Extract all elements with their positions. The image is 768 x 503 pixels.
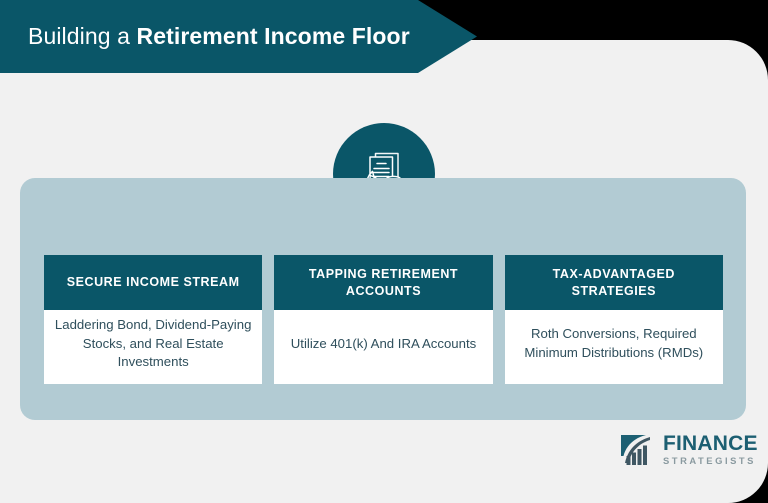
strategy-card: SECURE INCOME STREAM Laddering Bond, Div… [44,255,262,384]
infographic-root: Building a Retirement Income Floor [0,0,768,503]
finance-strategists-logo: FINANCE STRATEGISTS [620,432,758,466]
strategy-card-body: Roth Conversions, Required Minimum Distr… [505,310,723,384]
strategy-card-list: SECURE INCOME STREAM Laddering Bond, Div… [44,255,723,384]
page-title-prefix: Building a [28,23,137,49]
strategy-card-body: Laddering Bond, Dividend-Paying Stocks, … [44,310,262,384]
page-title: Building a Retirement Income Floor [0,24,410,49]
strategy-card-heading: SECURE INCOME STREAM [44,255,262,310]
strategy-card-heading: TAX-ADVANTAGED STRATEGIES [505,255,723,310]
logo-tagline: STRATEGISTS [663,456,758,465]
strategy-card: TAX-ADVANTAGED STRATEGIES Roth Conversio… [505,255,723,384]
logo-wordmark: FINANCE STRATEGISTS [663,433,758,465]
strategy-card: TAPPING RETIREMENT ACCOUNTS Utilize 401(… [274,255,492,384]
bar-chart-swoosh-icon [620,432,656,466]
strategy-card-heading: TAPPING RETIREMENT ACCOUNTS [274,255,492,310]
strategy-card-body: Utilize 401(k) And IRA Accounts [274,310,492,384]
page-title-emphasis: Retirement Income Floor [137,23,410,49]
header-banner: Building a Retirement Income Floor [0,0,477,73]
logo-name: FINANCE [663,433,758,454]
